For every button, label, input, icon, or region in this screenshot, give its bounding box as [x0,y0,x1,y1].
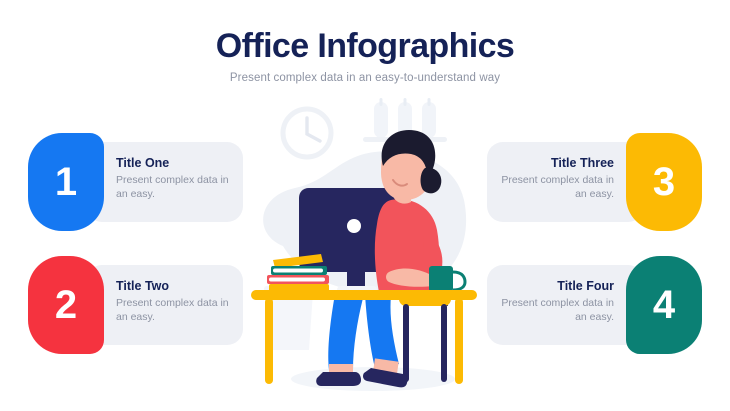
page-subtitle: Present complex data in an easy-to-under… [0,71,730,85]
woman-working-at-desk-illustration [243,96,493,396]
info-card-3-title: Title Three [501,155,614,171]
legs-icon [328,294,399,376]
info-card-2-number: 2 [55,285,77,325]
info-card-4[interactable]: Title Four Present complex data in an ea… [487,256,702,354]
info-card-2-title: Title Two [116,278,229,294]
info-card-3-number-badge[interactable]: 3 [626,133,702,231]
info-card-1-title: Title One [116,155,229,171]
info-card-2-panel: Title Two Present complex data in an eas… [86,265,243,345]
info-card-4-number-badge[interactable]: 4 [626,256,702,354]
header: Office Infographics Present complex data… [0,26,730,85]
info-card-3[interactable]: Title Three Present complex data in an e… [487,133,702,231]
info-card-1-number-badge[interactable]: 1 [28,133,104,231]
info-card-3-number: 3 [653,162,675,202]
wall-clock-icon [283,109,331,157]
info-card-4-panel: Title Four Present complex data in an ea… [487,265,644,345]
info-card-2-description: Present complex data in an easy. [116,296,229,324]
info-card-2[interactable]: Title Two Present complex data in an eas… [28,256,243,354]
info-card-4-description: Present complex data in an easy. [501,296,614,324]
info-card-2-number-badge[interactable]: 2 [28,256,104,354]
info-card-4-number: 4 [653,285,675,325]
info-card-1-number: 1 [55,162,77,202]
infographic-slide: Office Infographics Present complex data… [0,0,730,411]
info-card-3-description: Present complex data in an easy. [501,173,614,201]
page-title: Office Infographics [0,26,730,66]
info-card-1-panel: Title One Present complex data in an eas… [86,142,243,222]
coffee-mug-icon [429,266,465,292]
info-card-1-description: Present complex data in an easy. [116,173,229,201]
info-card-1[interactable]: Title One Present complex data in an eas… [28,133,243,231]
stacked-books-icon [267,254,329,292]
info-card-3-panel: Title Three Present complex data in an e… [487,142,644,222]
info-card-4-title: Title Four [501,278,614,294]
